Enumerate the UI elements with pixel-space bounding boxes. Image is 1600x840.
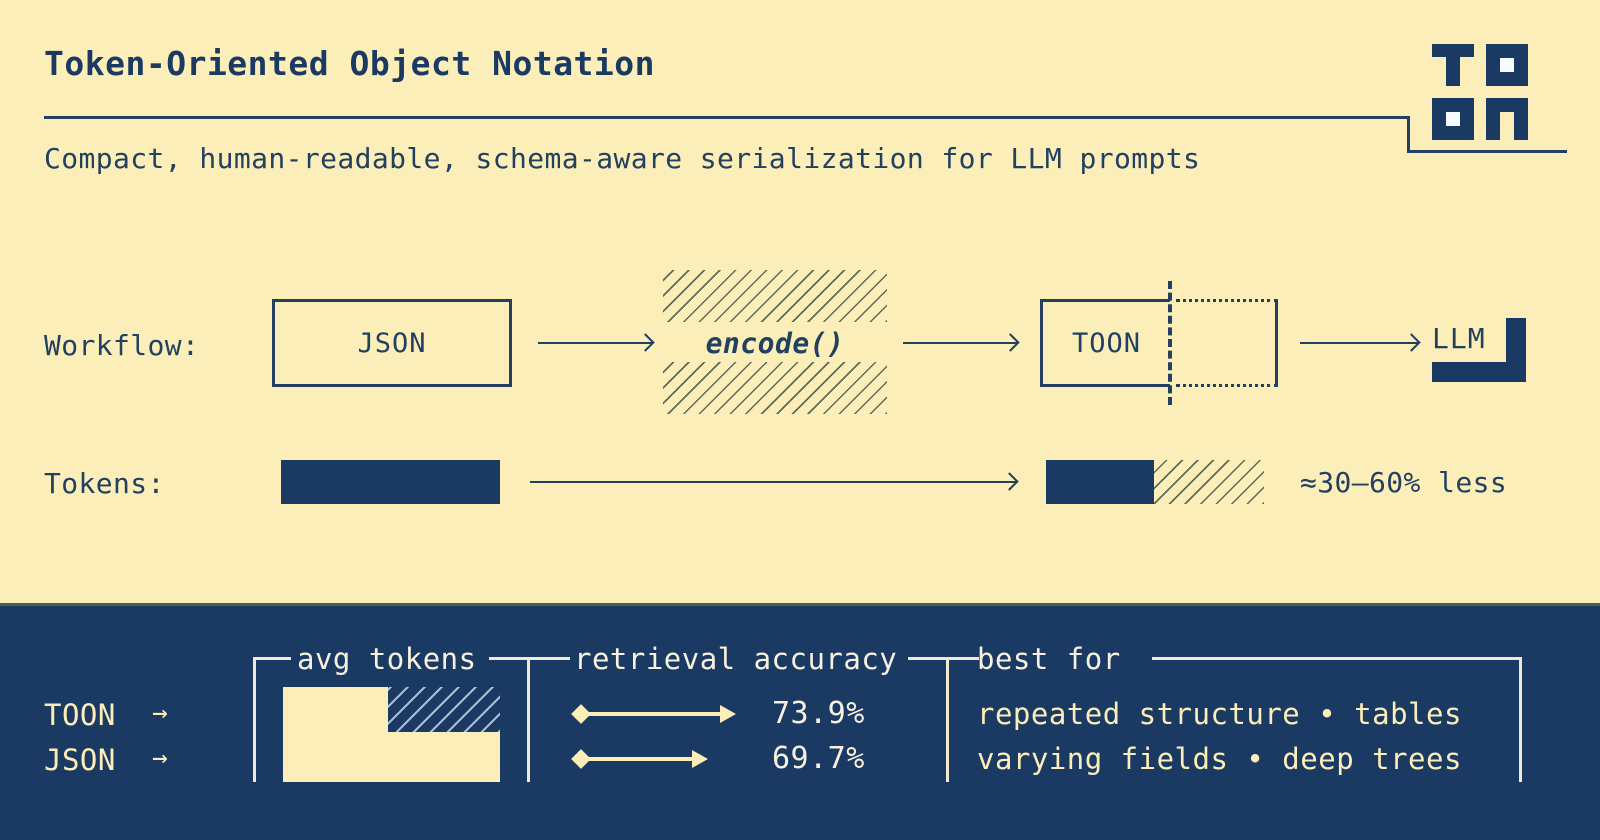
workflow-node-encode: encode() <box>663 325 887 361</box>
header-divider-tail <box>1407 150 1567 153</box>
divider-2-right-arm <box>949 657 979 660</box>
retrieval-accuracy-value-json: 69.7% <box>772 741 865 776</box>
llm-bracket-horizontal <box>1432 362 1526 382</box>
retrieval-arrowhead-json-icon <box>692 750 708 768</box>
retrieval-accuracy-value-toon: 73.9% <box>772 696 865 731</box>
encode-hatch-bottom <box>663 362 887 414</box>
divider-1-left-arm <box>489 657 527 660</box>
workflow-arrow-1-icon <box>538 333 652 353</box>
infographic-canvas: Token-Oriented Object Notation Compact, … <box>0 0 1600 840</box>
workflow-node-json: JSON <box>272 299 512 387</box>
footer-row-label-json: JSON <box>44 743 116 777</box>
avg-tokens-bar-toon-saved <box>388 687 500 732</box>
tokens-bar-json <box>281 460 500 504</box>
tokens-row-label: Tokens: <box>44 467 165 500</box>
page-title: Token-Oriented Object Notation <box>44 44 655 83</box>
avg-tokens-bar-toon <box>283 687 388 732</box>
tokens-arrow-icon <box>530 472 1016 492</box>
page-subtitle: Compact, human-readable, schema-aware se… <box>44 142 1200 175</box>
toon-logo-icon <box>1432 44 1528 140</box>
section-caption-best-for: best for <box>977 642 1121 676</box>
footer-row-arrow-toon-icon: → <box>152 698 168 728</box>
best-for-bracket-top <box>1152 657 1522 660</box>
workflow-node-toon-label: TOON <box>1072 328 1141 359</box>
tokens-bar-toon-solid <box>1046 460 1154 504</box>
footer-row-label-toon: TOON <box>44 698 116 732</box>
tokens-savings-note: ≈30–60% less <box>1300 466 1507 499</box>
section-caption-retrieval-accuracy: retrieval accuracy <box>574 642 897 676</box>
divider-2-stem <box>946 657 949 782</box>
workflow-node-toon: TOON <box>1040 299 1170 387</box>
retrieval-arrowhead-toon-icon <box>720 705 736 723</box>
workflow-node-llm: LLM <box>1432 322 1486 355</box>
workflow-node-json-label: JSON <box>357 328 426 359</box>
header-divider-step-vertical <box>1407 116 1410 153</box>
workflow-node-toon-divider <box>1168 281 1172 405</box>
best-for-line-json: varying fields • deep trees <box>977 742 1462 776</box>
avg-tokens-bar-json <box>283 732 500 782</box>
footer-row-arrow-json-icon: → <box>152 743 168 773</box>
tokens-bar-toon-saved <box>1154 460 1264 504</box>
workflow-node-toon-savings-region <box>1176 299 1278 387</box>
summary-footer: TOON → JSON → avg tokens retrieval accur… <box>0 603 1600 840</box>
divider-1-stem <box>527 657 530 782</box>
best-for-bracket-right <box>1519 657 1522 782</box>
workflow-arrow-2-icon <box>903 333 1017 353</box>
workflow-row-label: Workflow: <box>44 329 199 362</box>
header-divider-horizontal <box>44 116 1410 119</box>
divider-1-right-arm <box>530 657 570 660</box>
divider-2-left-arm <box>908 657 946 660</box>
section-caption-avg-tokens: avg tokens <box>297 642 477 676</box>
workflow-node-encode-label: encode() <box>706 327 845 360</box>
best-for-line-toon: repeated structure • tables <box>977 697 1462 731</box>
encode-hatch-top <box>663 270 887 322</box>
avg-tokens-bracket-top <box>253 657 291 660</box>
workflow-arrow-3-icon <box>1300 333 1418 353</box>
avg-tokens-bracket-left <box>253 657 256 782</box>
